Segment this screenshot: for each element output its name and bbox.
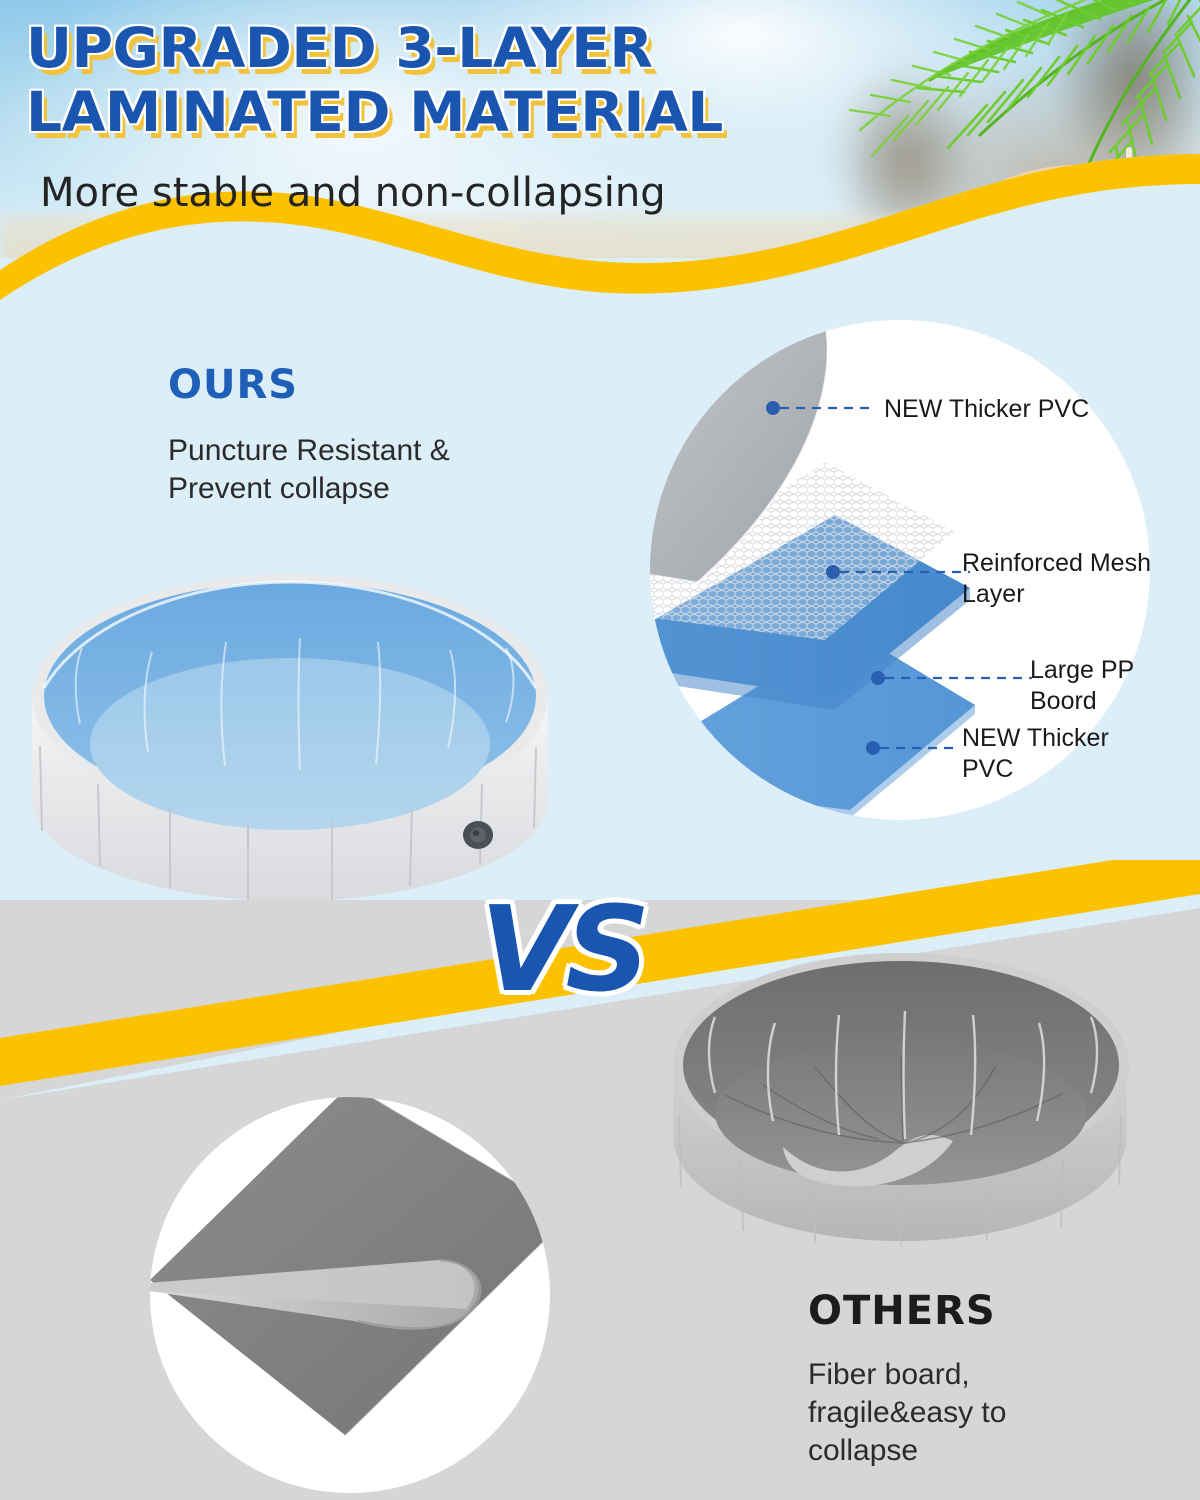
drain-valve-icon	[463, 821, 493, 849]
title-line-2: LAMINATED MATERIAL	[26, 80, 912, 144]
label-large-pp-boord: Large PP Boord	[1030, 655, 1180, 717]
others-heading: OTHERS	[808, 1288, 996, 1334]
page-subtitle: More stable and non-collapsing	[40, 170, 666, 216]
infographic-page: UPGRADED 3-LAYER LAMINATED MATERIAL More…	[0, 0, 1200, 1500]
others-pool-image	[655, 935, 1145, 1255]
label-new-thicker-pvc-top: NEW Thicker PVC	[884, 394, 1134, 425]
vs-badge: VS	[480, 890, 644, 1008]
ours-heading: OURS	[168, 362, 298, 408]
page-title: UPGRADED 3-LAYER LAMINATED MATERIAL	[26, 16, 886, 144]
ours-description: Puncture Resistant & Prevent collapse	[168, 432, 498, 508]
label-new-thicker-pvc-bottom: NEW Thicker PVC	[962, 723, 1122, 785]
title-line-1: UPGRADED 3-LAYER	[26, 16, 912, 80]
label-reinforced-mesh-layer: Reinforced Mesh Layer	[962, 548, 1182, 610]
others-material-diagram	[140, 1095, 560, 1495]
ours-pool-image	[20, 556, 560, 916]
others-description: Fiber board, fragile&easy to collapse	[808, 1356, 1108, 1470]
